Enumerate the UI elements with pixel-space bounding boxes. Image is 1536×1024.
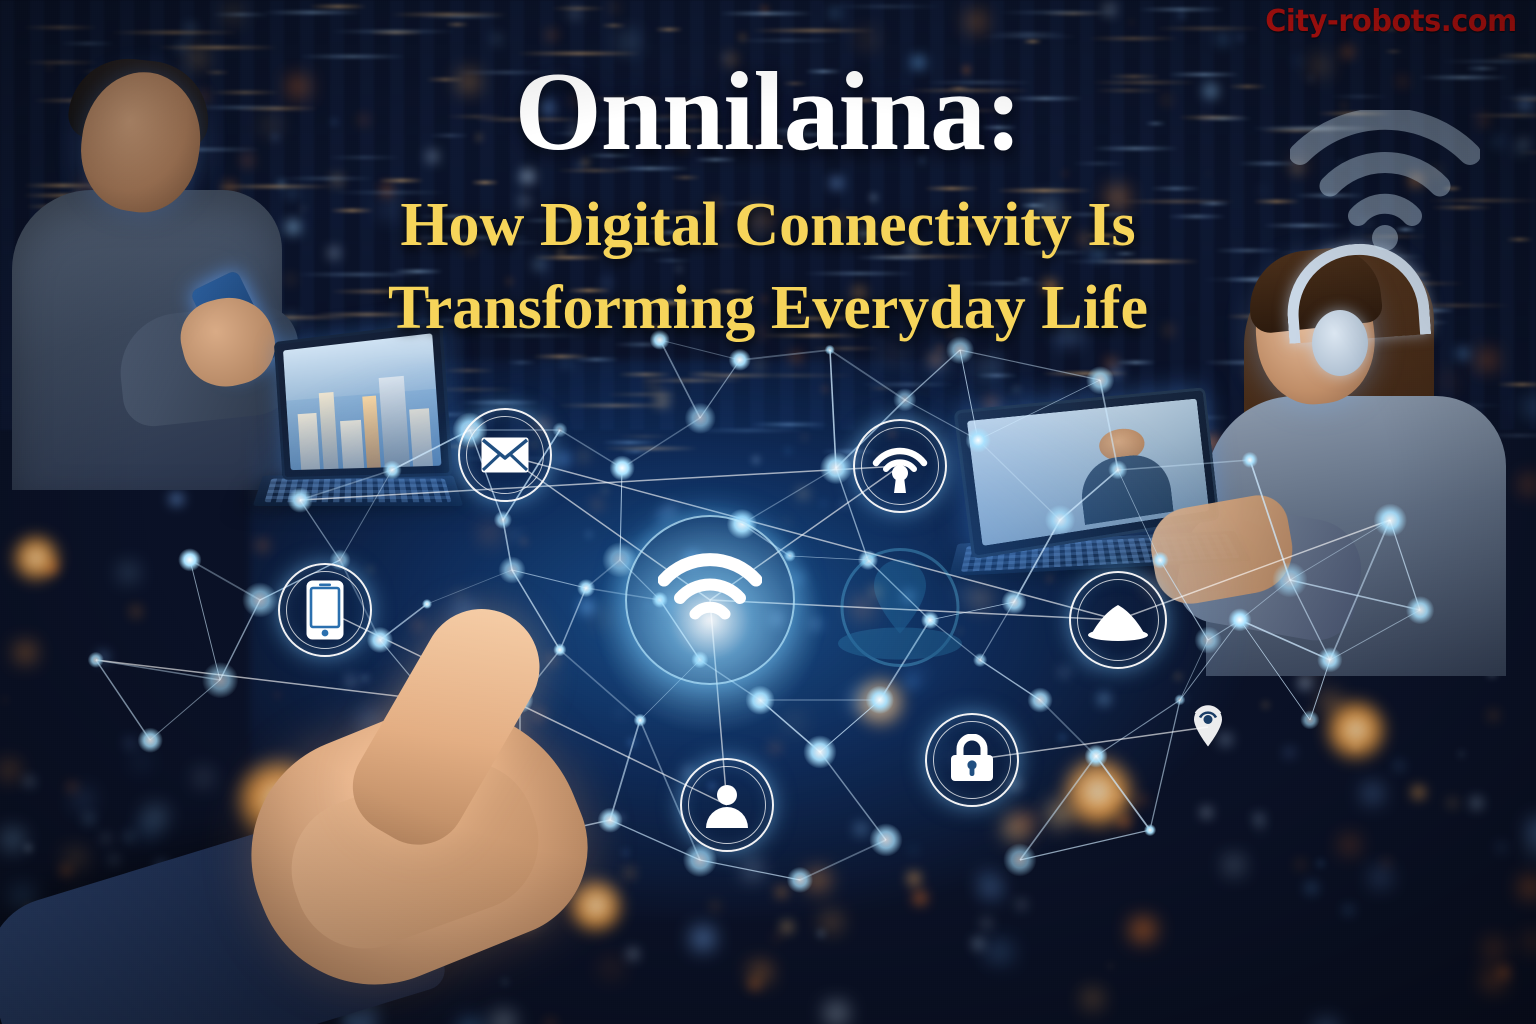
city-light [753, 457, 759, 463]
building-window-row [686, 372, 725, 375]
building-window-row [111, 31, 238, 34]
building-window-row [460, 401, 541, 404]
city-light [548, 655, 557, 664]
city-light-flare [10, 532, 62, 584]
building-window-row [378, 179, 423, 182]
city-light [1226, 857, 1242, 873]
screen-sky [283, 333, 436, 400]
padlock-glyph [946, 734, 998, 786]
city-light [535, 711, 542, 718]
city-light [169, 918, 190, 939]
globe-pin-icon [825, 538, 975, 693]
city-light [1460, 752, 1463, 755]
city-light [610, 4, 617, 11]
city-light [1255, 815, 1262, 822]
city-light [1364, 785, 1381, 802]
broadcast-glyph [870, 437, 930, 495]
city-light [141, 995, 147, 1001]
city-light [322, 907, 328, 913]
city-light [1099, 694, 1109, 704]
broadcast-icon[interactable] [853, 419, 947, 513]
building-window-row [1384, 50, 1403, 53]
city-light [62, 867, 70, 875]
city-light [527, 904, 545, 922]
city-light-flare [232, 754, 324, 846]
building-window-row [670, 176, 701, 179]
city-light [467, 876, 472, 881]
building-window-row [750, 423, 827, 426]
screen-building [298, 413, 320, 470]
envelope-glyph [480, 436, 530, 474]
city-light [826, 1003, 847, 1024]
city-light [522, 539, 526, 543]
city-light [429, 870, 449, 890]
laptop-left-keyboard [264, 479, 451, 503]
city-light [1, 762, 17, 778]
city-light [831, 178, 842, 189]
building-window-row [1041, 372, 1129, 375]
subtitle-line-1: How Digital Connectivity Is [0, 193, 1536, 259]
building-window-row [471, 181, 499, 184]
city-light-flare [1058, 752, 1138, 832]
city-light [465, 666, 476, 677]
city-light [256, 539, 269, 552]
city-light [455, 592, 464, 601]
laptop-left-screen [283, 333, 442, 470]
laptop-left-base [253, 475, 464, 506]
person-glyph [702, 780, 752, 830]
city-light [482, 525, 498, 541]
city-light [1017, 900, 1026, 909]
cloud-glyph [1086, 599, 1150, 641]
location-pin-icon [1187, 701, 1229, 754]
city-light [1137, 795, 1146, 804]
city-light [1496, 842, 1507, 853]
city-light [756, 362, 763, 369]
city-light [861, 32, 875, 46]
city-light [1412, 786, 1425, 799]
city-light [1305, 882, 1318, 895]
city-light [17, 644, 34, 661]
city-light [16, 970, 35, 989]
building-window-row [1150, 187, 1201, 190]
screen-building [362, 396, 381, 468]
city-light [144, 805, 166, 827]
building-window-row [1154, 27, 1261, 30]
wifi-glyph [658, 550, 762, 636]
video-call-body [1077, 451, 1173, 525]
building-window-row [393, 270, 443, 273]
building-window-row [617, 435, 671, 438]
building-window-row [369, 31, 423, 34]
city-light [2, 829, 23, 850]
city-light [1342, 837, 1358, 853]
city-light [509, 529, 521, 541]
building-window-row [1062, 260, 1169, 263]
city-light [1345, 907, 1352, 914]
building-window-row [811, 347, 882, 350]
city-light [1131, 918, 1155, 942]
screen-building [319, 392, 338, 469]
building-window-row [618, 373, 672, 376]
city-light [807, 869, 829, 891]
city-light [791, 352, 802, 363]
city-light [367, 835, 376, 844]
city-light [908, 872, 920, 884]
building-window-row [157, 46, 278, 49]
city-light [1180, 13, 1184, 17]
building-window-row [738, 374, 853, 377]
building-window-row [868, 387, 893, 390]
laptop-right [956, 398, 1256, 583]
city-light [46, 1004, 55, 1013]
building-window-row [533, 355, 588, 358]
lock-icon[interactable] [925, 713, 1019, 807]
city-light-flare [1322, 696, 1390, 764]
city-light [405, 793, 419, 807]
building-window-row [551, 7, 605, 10]
city-light [11, 885, 36, 910]
building-window-row [621, 450, 650, 453]
city-light [628, 949, 638, 959]
cloud-icon[interactable] [1069, 571, 1167, 669]
city-light [196, 770, 211, 785]
city-light [3, 698, 7, 702]
building-window-row [832, 5, 942, 8]
city-light [693, 928, 714, 949]
city-light [436, 769, 440, 773]
city-light [968, 13, 985, 30]
building-window-row [688, 429, 806, 432]
city-light [73, 789, 93, 809]
building-window-row [60, 42, 115, 45]
building-window-row [655, 28, 683, 31]
building-window-row [574, 358, 619, 361]
building-window-row [445, 23, 469, 26]
globe-pin-glyph [825, 538, 975, 688]
city-light [467, 855, 470, 858]
smartphone-glyph [305, 579, 345, 641]
building-window-row [1023, 40, 1042, 43]
city-light [344, 966, 360, 982]
building-window-row [390, 13, 507, 16]
city-light [802, 435, 807, 440]
city-light [534, 259, 545, 270]
city-light [625, 869, 634, 878]
city-light-flare [566, 876, 626, 936]
building-window-row [639, 379, 744, 382]
city-light [68, 783, 75, 790]
city-light [841, 502, 846, 507]
city-light [547, 31, 555, 39]
building-window-row [557, 404, 672, 407]
city-light [143, 985, 146, 988]
city-light [1217, 33, 1229, 45]
city-light [1500, 968, 1508, 976]
building-window-row [601, 24, 625, 27]
building-window-row [719, 12, 813, 15]
building-window-row [998, 11, 1121, 14]
city-light [981, 918, 992, 929]
city-light [776, 887, 787, 898]
building-window-row [309, 5, 367, 8]
building-window-row [990, 32, 1067, 35]
laptop-left [258, 332, 458, 522]
hero-banner: Onnilaina: How Digital Connectivity Is T… [0, 0, 1536, 1024]
city-light [1063, 172, 1066, 175]
location-pin-glyph [1187, 701, 1229, 749]
building-window-row [652, 259, 692, 262]
city-light [210, 938, 214, 942]
smartphone-icon[interactable] [278, 563, 372, 657]
city-light [785, 448, 791, 454]
city-light [405, 740, 418, 753]
city-light [600, 957, 622, 979]
city-light [117, 946, 125, 954]
city-light [886, 348, 901, 363]
city-light [361, 713, 376, 728]
subtitle-line-2: Transforming Everyday Life [0, 276, 1536, 342]
city-light [70, 895, 88, 913]
screen-building [410, 408, 434, 467]
city-light [407, 858, 420, 871]
page-title: Onnilaina: [0, 56, 1536, 168]
city-light [1016, 816, 1031, 831]
building-window-row [981, 35, 1077, 38]
city-light [1109, 964, 1113, 968]
city-light [1520, 877, 1536, 898]
city-light [913, 891, 927, 905]
city-light [621, 34, 636, 49]
city-light [441, 720, 458, 737]
city-light [782, 922, 792, 932]
city-light [677, 267, 681, 271]
building-window-row [606, 393, 677, 396]
city-light [831, 9, 839, 17]
user-icon[interactable] [680, 758, 774, 852]
video-call-man [1067, 422, 1179, 526]
building-window-row [752, 29, 875, 32]
city-light [854, 822, 868, 836]
building-window-row [1138, 8, 1225, 11]
building-window-row [1116, 361, 1155, 364]
laptop-left-lid [274, 322, 453, 480]
city-light [493, 1012, 514, 1024]
building-window-row [23, 26, 98, 29]
building-window-row [602, 441, 657, 444]
city-light [983, 881, 1000, 898]
city-light [243, 924, 264, 945]
building-window-row [613, 343, 672, 346]
city-light [185, 972, 208, 995]
city-light [84, 814, 93, 823]
city-light [711, 902, 719, 910]
city-light [344, 1015, 353, 1024]
city-light [402, 970, 409, 977]
city-light [546, 1019, 555, 1024]
city-light [1106, 358, 1116, 368]
city-light [822, 913, 840, 931]
city-light [157, 862, 166, 871]
city-light [83, 966, 96, 979]
screen-building [340, 420, 364, 469]
building-window-row [263, 11, 363, 14]
city-light [98, 652, 108, 662]
city-light [974, 939, 982, 947]
building-window-row [507, 361, 536, 364]
city-light [1084, 990, 1102, 1008]
city-light [1175, 674, 1181, 680]
city-light [1395, 762, 1402, 769]
building-window-row [212, 13, 270, 16]
building-window-row [976, 374, 1017, 377]
watermark: City-robots.com [1265, 4, 1516, 39]
city-light [412, 620, 422, 630]
email-icon[interactable] [458, 408, 552, 502]
city-light [125, 833, 132, 840]
building-window-row [1088, 37, 1178, 40]
city-light [355, 1000, 376, 1021]
city-light [26, 845, 32, 851]
city-light [1308, 710, 1313, 715]
city-light [1061, 668, 1068, 675]
building-window-row [603, 447, 698, 450]
wifi-icon-center [625, 515, 795, 685]
city-light [562, 359, 569, 366]
city-light [120, 964, 132, 976]
city-light [819, 931, 823, 935]
building-window-row [924, 187, 979, 190]
